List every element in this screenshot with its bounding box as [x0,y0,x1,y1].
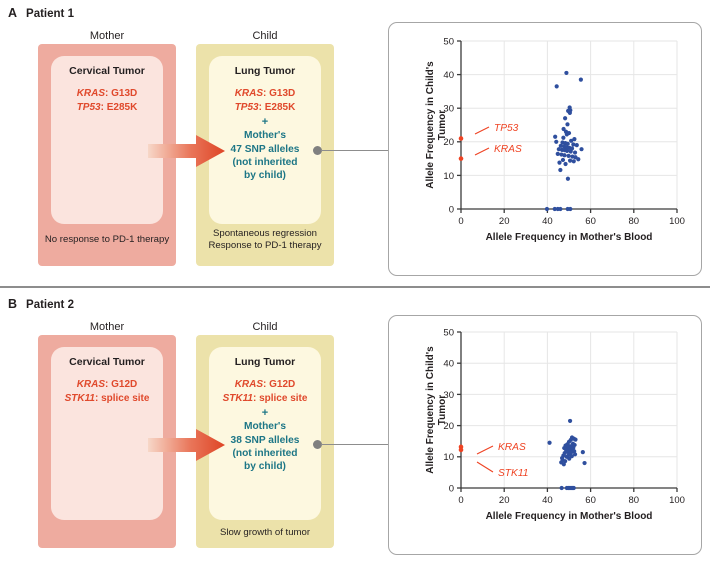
svg-text:STK11: STK11 [498,468,528,479]
mother-tumor-box-b: Cervical Tumor KRAS: G12D STK11: splice … [38,335,176,548]
child-snp-line-4-b: by child) [209,460,321,473]
child-tumor-title: Lung Tumor [209,65,321,78]
svg-text:50: 50 [443,327,454,338]
mother-inner-panel: Cervical Tumor KRAS: G13D TP53: E285K [51,56,163,224]
child-gene-2: TP53 [235,102,259,113]
child-snp-line-2: 47 SNP alleles [209,143,321,156]
svg-text:10: 10 [443,452,454,463]
child-snp-line-3-b: (not inherited [209,447,321,460]
child-tumor-title-b: Lung Tumor [209,356,321,369]
mother-gene-2-b: STK11 [65,393,95,404]
child-gene-1-b: KRAS [235,379,263,390]
child-snp-line-3: (not inherited [209,156,321,169]
scatter-plot-patient-1[interactable]: 02040608010001020304050TP53KRASAllele Fr… [389,23,698,272]
mother-variant-2: E285K [107,102,138,113]
mother-tumor-title: Cervical Tumor [51,65,163,78]
svg-text:TP53: TP53 [494,123,519,134]
mother-mutation-1: KRAS: G13D [51,87,163,101]
mother-inner-panel-b: Cervical Tumor KRAS: G12D STK11: splice … [51,347,163,520]
mother-tumor-title-b: Cervical Tumor [51,356,163,369]
svg-text:10: 10 [443,171,454,182]
svg-text:Tumor: Tumor [437,110,448,140]
svg-text:100: 100 [669,495,685,506]
child-footer-line-2: Response to PD-1 therapy [198,240,332,252]
mother-variant-1-b: G12D [111,379,137,390]
child-snp-line-1-b: Mother's [209,420,321,433]
child-snp-line-1: Mother's [209,129,321,142]
child-inner-panel: Lung Tumor KRAS: G13D TP53: E285K + Moth… [209,56,321,224]
svg-text:80: 80 [629,495,640,506]
mother-gene-1-b: KRAS [77,379,105,390]
child-plus-sign: + [209,115,321,129]
svg-text:80: 80 [629,216,640,227]
mother-mutation-2-b: STK11: splice site [51,392,163,406]
mother-variant-2-b: splice site [101,393,149,404]
mother-mutation-1-b: KRAS: G12D [51,378,163,392]
mother-gene-2: TP53 [77,102,101,113]
child-mutation-1: KRAS: G13D [209,87,321,101]
svg-text:40: 40 [542,495,553,506]
mother-gene-1: KRAS [77,88,105,99]
child-variant-2: E285K [265,102,296,113]
child-variant-1: G13D [269,88,295,99]
svg-text:20: 20 [499,216,510,227]
child-snp-line-4: by child) [209,169,321,182]
svg-text:40: 40 [542,216,553,227]
child-snp-line-2-b: 38 SNP alleles [209,434,321,447]
diagram-patient-2: Mother Child Cervical Tumor KRAS: G12D S… [0,291,372,571]
mother-tumor-box: Cervical Tumor KRAS: G13D TP53: E285K No… [38,44,176,266]
panel-divider [0,286,710,288]
svg-text:Allele Frequency in Mother's B: Allele Frequency in Mother's Blood [486,511,653,522]
svg-text:40: 40 [443,70,454,81]
panel-patient-2: B Patient 2 Mother Child Cervical Tumor … [0,291,710,571]
child-tumor-box: Lung Tumor KRAS: G13D TP53: E285K + Moth… [196,44,334,266]
svg-text:KRAS: KRAS [498,442,526,453]
mother-footer-line-1: No response to PD-1 therapy [40,234,174,246]
child-variant-1-b: G12D [269,379,295,390]
svg-text:50: 50 [443,36,454,47]
svg-text:40: 40 [443,359,454,370]
svg-text:Allele Frequency in Child's: Allele Frequency in Child's [425,61,436,189]
svg-text:60: 60 [585,216,596,227]
child-variant-2-b: splice site [259,393,307,404]
mother-mutation-2: TP53: E285K [51,101,163,115]
mother-column-label: Mother [38,30,176,42]
svg-text:0: 0 [458,216,463,227]
svg-text:0: 0 [449,483,454,494]
diagram-patient-1: Mother Child Cervical Tumor KRAS: G13D T… [0,0,372,288]
svg-text:Allele Frequency in Mother's B: Allele Frequency in Mother's Blood [486,232,653,243]
chart-card-patient-2: 02040608010001020304050KRASSTK11Allele F… [388,315,702,555]
child-gene-1: KRAS [235,88,263,99]
child-footer-line-1-b: Slow growth of tumor [198,527,332,539]
mother-column-label-b: Mother [38,321,176,333]
child-inner-panel-b: Lung Tumor KRAS: G12D STK11: splice site… [209,347,321,520]
child-footer-line-1: Spontaneous regression [198,228,332,240]
scatter-plot-patient-2[interactable]: 02040608010001020304050KRASSTK11Allele F… [389,316,698,551]
child-mutation-2-b: STK11: splice site [209,392,321,406]
svg-text:Allele Frequency in Child's: Allele Frequency in Child's [425,346,436,474]
child-plus-sign-b: + [209,406,321,420]
child-column-label-b: Child [196,321,334,333]
mother-variant-1: G13D [111,88,137,99]
svg-text:100: 100 [669,216,685,227]
child-column-label: Child [196,30,334,42]
svg-text:0: 0 [449,204,454,215]
connector-line-b [321,444,393,446]
svg-text:0: 0 [458,495,463,506]
child-mutation-1-b: KRAS: G12D [209,378,321,392]
chart-card-patient-1: 02040608010001020304050TP53KRASAllele Fr… [388,22,702,276]
svg-text:KRAS: KRAS [494,144,522,155]
svg-text:Tumor: Tumor [437,395,448,425]
svg-text:60: 60 [585,495,596,506]
panel-patient-1: A Patient 1 Mother Child Cervical Tumor … [0,0,710,288]
svg-text:20: 20 [499,495,510,506]
child-gene-2-b: STK11 [223,393,253,404]
connector-line-a [321,150,393,152]
child-mutation-2: TP53: E285K [209,101,321,115]
